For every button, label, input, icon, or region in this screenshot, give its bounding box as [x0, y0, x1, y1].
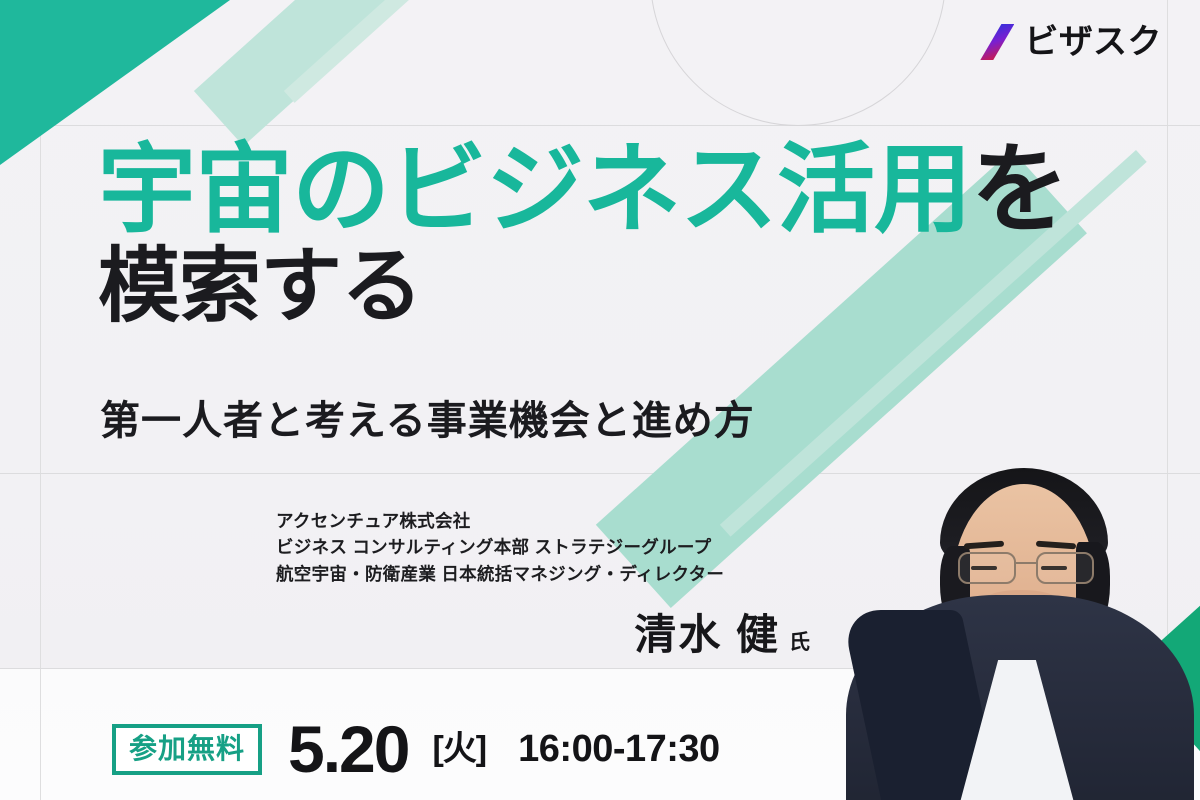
event-time-range: 16:00-17:30 [518, 730, 720, 768]
title-line-2: 模索する [98, 244, 1158, 330]
title-particle-wo: を [971, 134, 1068, 244]
portrait-glasses-bridge [1016, 562, 1036, 564]
grid-line-horizontal-top [0, 125, 1200, 126]
webinar-banner: ビザスク 宇宙のビジネス活用を 模索する 第一人者と考える事業機会と進め方 アク… [0, 0, 1200, 800]
logo-text: ビザスク [1024, 25, 1162, 59]
headline-block: 宇宙のビジネス活用を 模索する [98, 140, 1158, 330]
speaker-name-row: 清水 健 氏 [276, 601, 836, 662]
event-date: 5.20 [288, 716, 408, 782]
logo-slash-icon [980, 24, 1014, 60]
title-accent-text: 宇宙のビジネス活用 [98, 134, 971, 244]
subtitle: 第一人者と考える事業機会と進め方 [100, 388, 755, 446]
speaker-portrait [840, 330, 1200, 800]
title-line-1: 宇宙のビジネス活用を [98, 140, 1158, 240]
free-admission-badge: 参加無料 [112, 724, 262, 775]
portrait-glasses-icon [956, 552, 1096, 586]
event-day-of-week: [火] [432, 732, 486, 766]
speaker-affiliation-line-1: アクセンチュア株式会社 [276, 508, 836, 534]
speaker-honorific: 氏 [789, 626, 810, 656]
portrait-lens-left [958, 552, 1016, 584]
speaker-affiliation-line-3: 航空宇宙・防衛産業 日本統括マネジング・ディレクター [276, 561, 836, 587]
event-date-bar: 参加無料 5.20 [火] 16:00-17:30 [112, 716, 720, 782]
speaker-name: 清水 健 [634, 601, 780, 662]
speaker-block: アクセンチュア株式会社 ビジネス コンサルティング本部 ストラテジーグループ 航… [276, 508, 836, 662]
speaker-affiliation-line-2: ビジネス コンサルティング本部 ストラテジーグループ [276, 534, 836, 560]
portrait-lens-right [1036, 552, 1094, 584]
brand-logo[interactable]: ビザスク [980, 24, 1162, 60]
